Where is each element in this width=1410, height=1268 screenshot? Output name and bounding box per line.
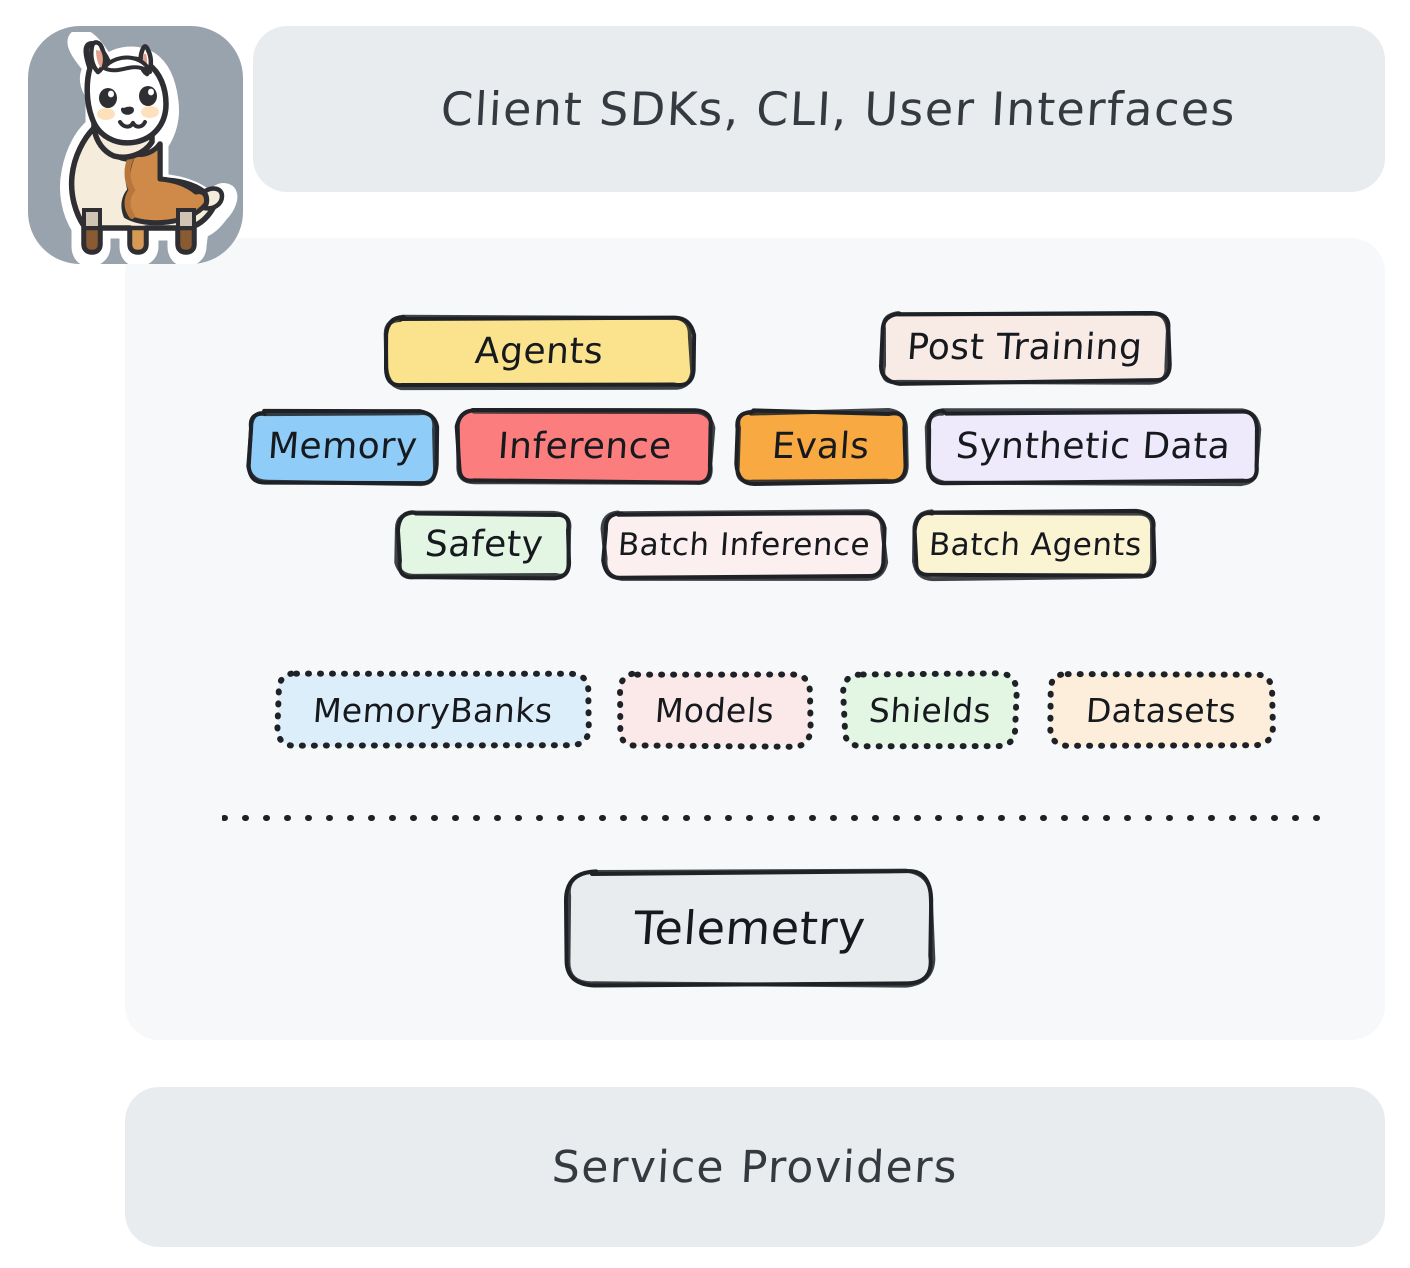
telemetry-node-telemetry[interactable]: Telemetry [568, 872, 932, 984]
api-node-label: Safety [424, 527, 545, 563]
resource-node-datasets[interactable]: Datasets [1050, 674, 1272, 746]
dotted-divider [222, 812, 1322, 824]
telemetry-node-label: Telemetry [633, 905, 868, 951]
llama-icon [32, 32, 244, 264]
resource-node-label: Shields [868, 694, 992, 727]
service-providers-panel: Service Providers [125, 1087, 1385, 1247]
api-node-label: Synthetic Data [955, 429, 1232, 465]
resource-node-label: Datasets [1085, 694, 1238, 727]
api-node-label: Post Training [906, 330, 1144, 366]
resource-node-memorybanks[interactable]: MemoryBanks [278, 674, 588, 746]
diagram-canvas: Client SDKs, CLI, User Interfaces [0, 0, 1410, 1268]
api-node-batch-inference[interactable]: Batch Inference [604, 513, 884, 577]
api-node-label: Agents [474, 334, 605, 370]
api-node-synthetic-data[interactable]: Synthetic Data [928, 412, 1258, 482]
api-node-label: Batch Agents [927, 530, 1142, 561]
resource-node-label: MemoryBanks [312, 694, 554, 727]
api-node-inference[interactable]: Inference [458, 412, 712, 482]
api-node-label: Batch Inference [617, 530, 871, 561]
resource-node-label: Models [654, 694, 776, 727]
api-node-label: Memory [267, 429, 419, 465]
api-node-memory[interactable]: Memory [250, 412, 436, 482]
api-node-label: Inference [497, 429, 673, 465]
api-node-label: Evals [771, 429, 871, 465]
api-node-batch-agents[interactable]: Batch Agents [916, 513, 1154, 577]
client-layer-title: Client SDKs, CLI, User Interfaces [440, 82, 1238, 136]
api-node-post-training[interactable]: Post Training [882, 314, 1168, 382]
resource-node-shields[interactable]: Shields [844, 674, 1016, 746]
api-node-agents[interactable]: Agents [386, 318, 692, 386]
client-layer-panel: Client SDKs, CLI, User Interfaces [253, 26, 1385, 192]
service-providers-title: Service Providers [551, 1142, 960, 1193]
api-node-evals[interactable]: Evals [737, 412, 905, 482]
llama-logo [28, 26, 243, 264]
api-node-safety[interactable]: Safety [398, 513, 570, 577]
resource-node-models[interactable]: Models [620, 674, 810, 746]
